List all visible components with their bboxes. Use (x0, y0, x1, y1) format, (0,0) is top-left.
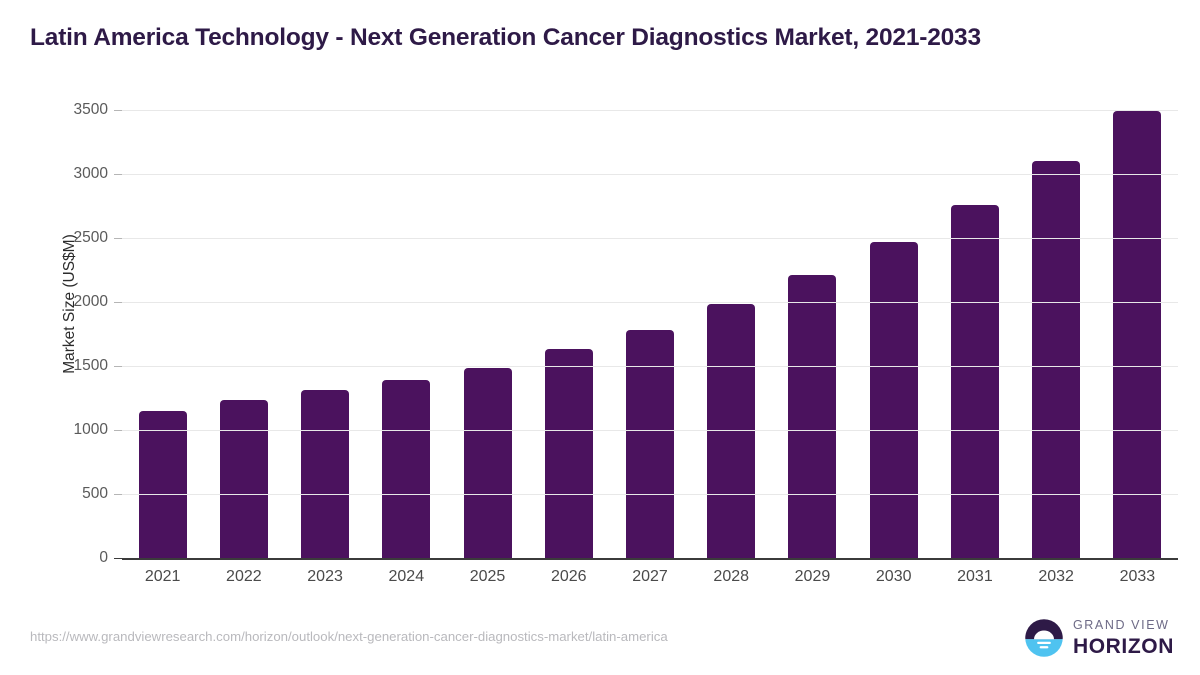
y-tick-mark (114, 238, 122, 239)
plot-area (122, 110, 1178, 558)
y-tick-label: 500 (0, 485, 108, 503)
y-tick-mark (114, 430, 122, 431)
bar-2029[interactable] (788, 275, 836, 558)
y-tick-mark (114, 302, 122, 303)
bar-series (122, 110, 1178, 558)
y-tick-label: 0 (0, 549, 108, 567)
bar-2024[interactable] (382, 380, 430, 558)
gridline (122, 494, 1178, 495)
bar-2022[interactable] (220, 400, 268, 558)
bar-2025[interactable] (464, 368, 512, 558)
horizon-logo-icon (1024, 618, 1064, 658)
bar-2027[interactable] (626, 330, 674, 558)
source-url[interactable]: https://www.grandviewresearch.com/horizo… (30, 629, 668, 644)
y-tick-mark (114, 174, 122, 175)
gridline (122, 366, 1178, 367)
y-tick-mark (114, 494, 122, 495)
gridline (122, 110, 1178, 111)
logo-line-1: GRAND VIEW (1073, 619, 1174, 632)
bar-2032[interactable] (1032, 161, 1080, 558)
bar-2026[interactable] (545, 349, 593, 558)
logo-line-2: HORIZON (1073, 636, 1174, 657)
grand-view-horizon-logo: GRAND VIEW HORIZON (1024, 618, 1174, 658)
y-tick-label: 3500 (0, 101, 108, 119)
gridline (122, 302, 1178, 303)
bar-2023[interactable] (301, 390, 349, 558)
bar-2031[interactable] (951, 205, 999, 558)
gridline (122, 238, 1178, 239)
y-tick-mark (114, 366, 122, 367)
logo-wordmark: GRAND VIEW HORIZON (1073, 619, 1174, 657)
bar-2033[interactable] (1113, 111, 1161, 558)
gridline (122, 430, 1178, 431)
y-tick-mark (114, 558, 122, 559)
y-tick-label: 2500 (0, 229, 108, 247)
chart-canvas: Market Size (US$M) 050010001500200025003… (0, 0, 1200, 675)
x-axis-line (122, 558, 1178, 560)
gridline (122, 174, 1178, 175)
y-tick-label: 3000 (0, 165, 108, 183)
chart-page: Latin America Technology - Next Generati… (0, 0, 1200, 675)
y-tick-label: 1500 (0, 357, 108, 375)
y-tick-label: 2000 (0, 293, 108, 311)
bar-2030[interactable] (870, 242, 918, 558)
bar-2021[interactable] (139, 411, 187, 558)
x-tick-label-2033: 2033 (1082, 568, 1192, 586)
y-tick-label: 1000 (0, 421, 108, 439)
y-tick-mark (114, 110, 122, 111)
